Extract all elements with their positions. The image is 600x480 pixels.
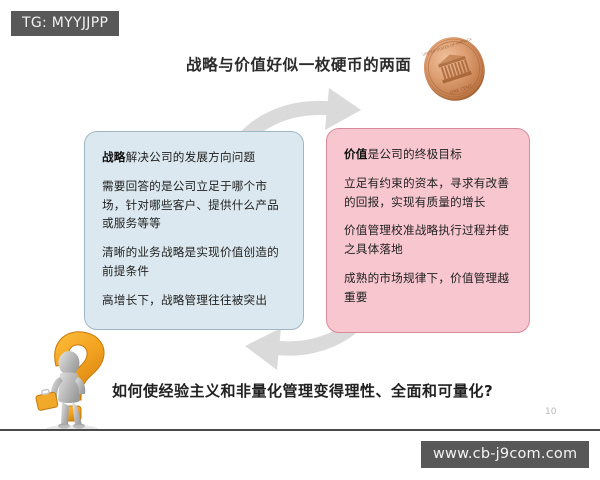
page-number: 10 [545,407,556,417]
slide-canvas: TG: MYYJJPP 战略与价值好似一枚硬币的两面 [0,0,600,480]
question-mark-figure-icon [22,322,126,434]
strategy-paragraph-2: 清晰的业务战略是实现价值创造的前提条件 [102,243,289,281]
strategy-paragraph-3: 高增长下，战略管理往往被突出 [102,291,289,310]
site-watermark: www.cb-j9com.com [421,441,589,468]
strategy-box: 战略解决公司的发展方向问题 需要回答的是公司立足于哪个市场，针对哪些客户、提供什… [84,131,304,330]
value-lead-term: 价值 [344,147,368,161]
value-paragraph-2: 价值管理校准战略执行过程并使之具体落地 [344,221,515,259]
value-paragraph-3: 成熟的市场规律下，价值管理越重要 [344,269,515,307]
value-box: 价值是公司的终极目标 立足有约束的资本，寻求有改善的回报，实现有质量的增长 价值… [326,128,530,333]
value-heading: 价值是公司的终极目标 [344,145,515,164]
page-title: 战略与价值好似一枚硬币的两面 [186,53,411,75]
strategy-paragraph-1: 需要回答的是公司立足于哪个市场，针对哪些客户、提供什么产品或服务等等 [102,177,289,233]
bottom-question-text: 如何使经验主义和非量化管理变得理性、全面和可量化? [112,380,493,401]
strategy-lead-term: 战略 [102,150,126,164]
tg-watermark-tag: TG: MYYJJPP [11,11,119,36]
value-lead-rest: 是公司的终极目标 [368,147,462,161]
value-paragraph-1: 立足有约束的资本，寻求有改善的回报，实现有质量的增长 [344,174,515,212]
strategy-heading: 战略解决公司的发展方向问题 [102,148,289,167]
one-cent-coin-icon: UNITED STATES OF AMERICA ONE CENT [418,29,490,107]
strategy-lead-rest: 解决公司的发展方向问题 [126,150,256,164]
